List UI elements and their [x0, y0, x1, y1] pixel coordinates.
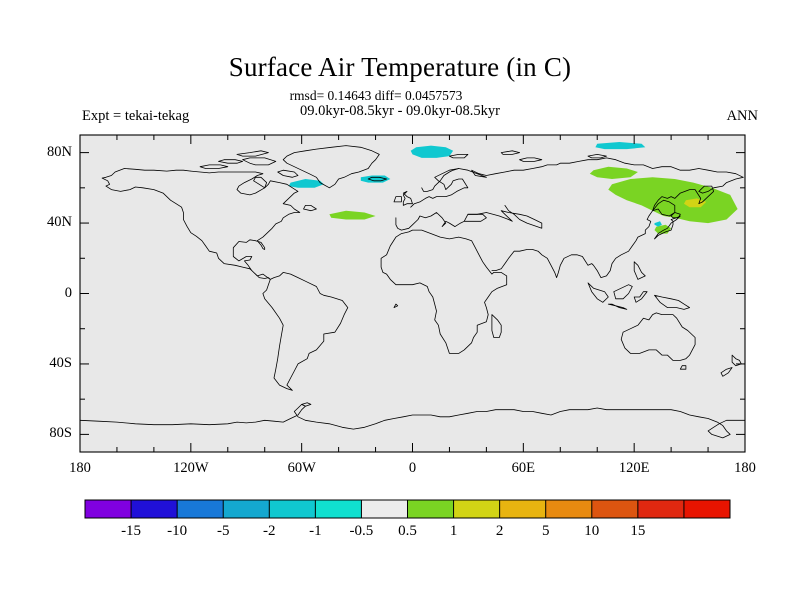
colorbar-segment [223, 500, 269, 518]
x-axis-tick-label: 180 [715, 460, 775, 477]
colorbar-segment [546, 500, 592, 518]
colorbar-tick-label: 15 [608, 523, 668, 540]
y-axis-tick-label: 80N [18, 144, 72, 161]
x-axis-tick-label: 180 [50, 460, 110, 477]
colorbar-segment [361, 500, 407, 518]
colorbar-segment [408, 500, 454, 518]
colorbar [85, 500, 730, 518]
climate-figure: Surface Air Temperature (in C) rmsd= 0.1… [0, 0, 800, 600]
x-axis-tick-label: 60E [493, 460, 553, 477]
colorbar-segment [315, 500, 361, 518]
experiment-label: Expt = tekai-tekag [82, 108, 189, 125]
x-axis-tick-label: 120E [604, 460, 664, 477]
season-label: ANN [727, 108, 758, 125]
colorbar-segment [454, 500, 500, 518]
colorbar-segment [592, 500, 638, 518]
figure-statistics: rmsd= 0.14643 diff= 0.0457573 [0, 88, 752, 104]
colorbar-segment [684, 500, 730, 518]
colorbar-segment [638, 500, 684, 518]
y-axis-tick-label: 40N [18, 214, 72, 231]
colorbar-segment [177, 500, 223, 518]
x-axis-tick-label: 60W [272, 460, 332, 477]
x-axis-tick-label: 0 [383, 460, 443, 477]
colorbar-segment [131, 500, 177, 518]
colorbar-segment [269, 500, 315, 518]
y-axis-tick-label: 0 [18, 285, 72, 302]
colorbar-segment [85, 500, 131, 518]
colorbar-segment [500, 500, 546, 518]
y-axis-tick-label: 80S [18, 425, 72, 442]
x-axis-tick-label: 120W [161, 460, 221, 477]
figure-title: Surface Air Temperature (in C) [0, 52, 800, 83]
y-axis-tick-label: 40S [18, 355, 72, 372]
